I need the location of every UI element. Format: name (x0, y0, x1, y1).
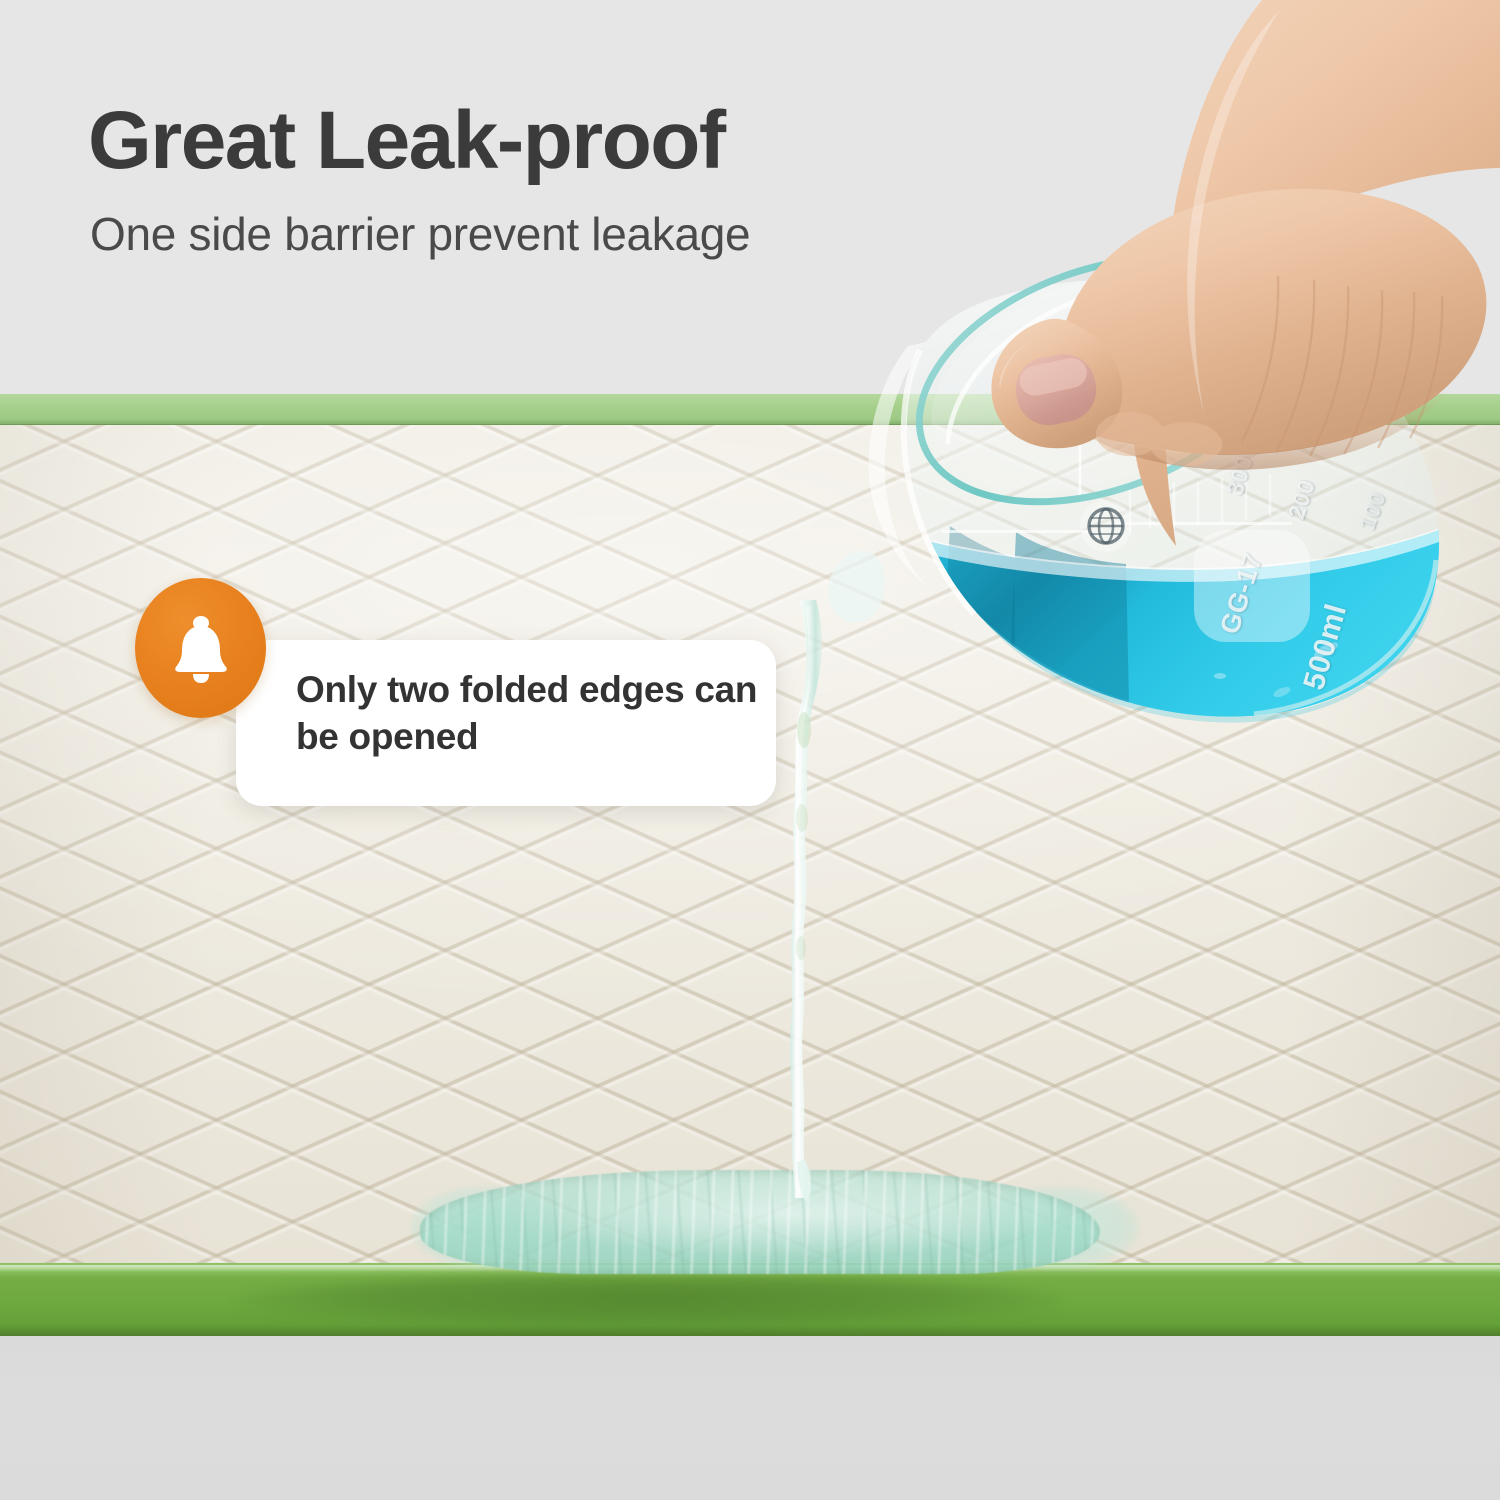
barrier-wet-patch (235, 1277, 1065, 1327)
callout-card: Only two folded edges can be opened (236, 640, 776, 806)
callout-badge (135, 578, 266, 718)
water-ripples (420, 1170, 1100, 1274)
bell-icon (168, 612, 234, 684)
image-bottom-strip (0, 1336, 1500, 1500)
page-subtitle: One side barrier prevent leakage (90, 208, 750, 261)
page-title: Great Leak-proof (88, 100, 725, 182)
product-feature-image: 500 APPROX 300 200 100 GG-17 500ml (0, 0, 1500, 1500)
callout-text: Only two folded edges can be opened (296, 666, 766, 761)
water-pool (420, 1170, 1100, 1274)
hand-pouring (980, 0, 1500, 550)
mat-side-barrier (0, 1263, 1500, 1338)
